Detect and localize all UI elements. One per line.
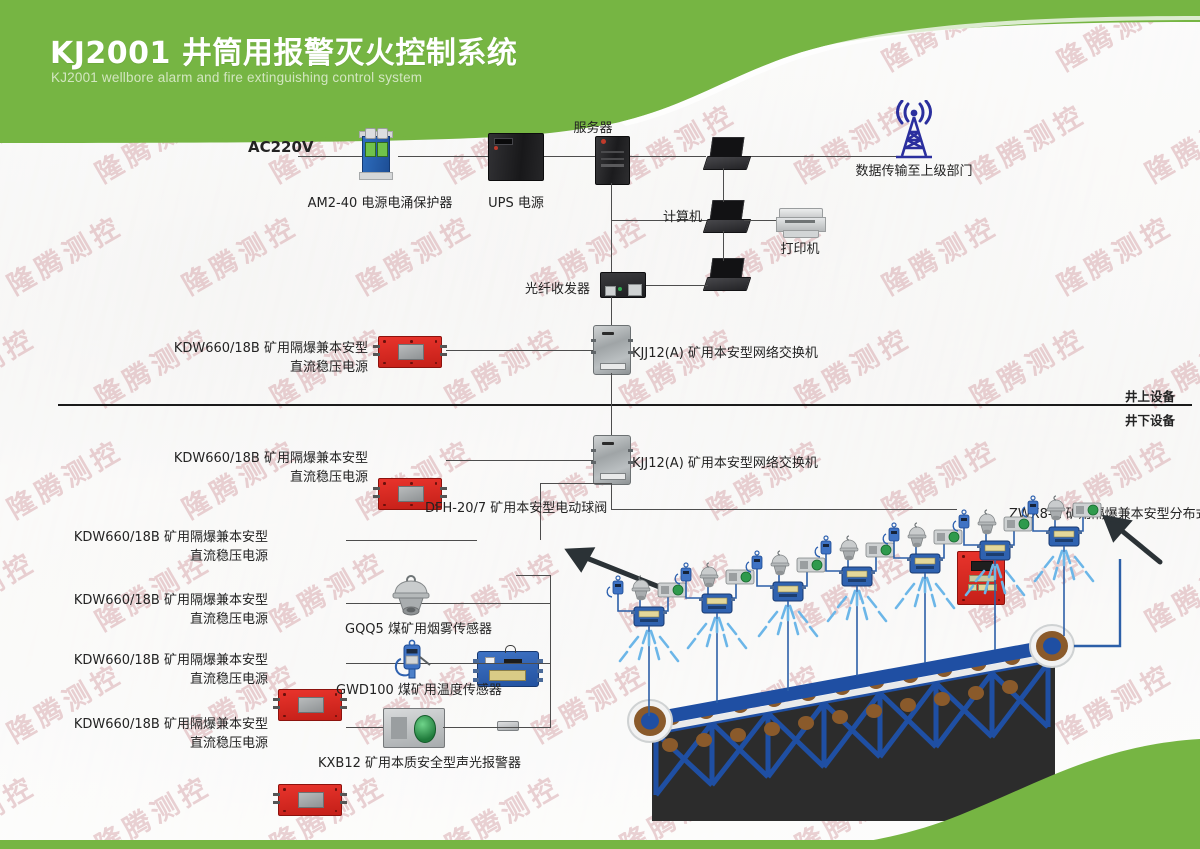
page-title: KJ2001 井筒用报警灭火控制系统 [50,28,517,72]
watermark-text: 隆腾测控 [87,765,217,849]
footer-bar [0,840,1200,849]
ps1-line1: KDW660/18B 矿用隔爆兼本安型 [70,528,268,547]
line-sensors-riser [550,575,551,728]
cluster-control-box [770,582,806,601]
cluster-alarm [1073,503,1101,517]
watermark-text: 隆腾测控 [0,541,42,639]
power-supply-surface-label: KDW660/18B 矿用隔爆兼本安型 直流稳压电源 [168,339,368,377]
page-subtitle: KJ2001 wellbore alarm and fire extinguis… [51,70,422,85]
watermark-text: 隆腾测控 [699,429,829,527]
below-ground-label: 井下设备 [1125,410,1175,429]
cluster-temp-sensor [607,576,623,597]
server-device [595,136,630,185]
network-switch-surface-label: KJJ12(A) 矿用本安型网络交换机 [632,342,818,361]
cluster-smoke-sensor [1047,496,1065,520]
watermark-text: 隆腾测控 [0,317,42,415]
line-converter-to-laptop3 [640,285,708,286]
watermark-text: 隆腾测控 [612,317,742,415]
ps4-line2: 直流稳压电源 [70,734,268,753]
smoke-sensor-label: GQQ5 煤矿用烟雾传感器 [345,618,485,637]
ps-ug-line2: 直流稳压电源 [168,468,368,487]
ps2-line2: 直流稳压电源 [70,610,268,629]
cluster-smoke-sensor [771,551,789,575]
above-ground-label: 井上设备 [1125,386,1175,405]
server-label: 服务器 [558,117,628,136]
line-surge-to-ups [398,156,488,157]
line-laptop2-to-printer [744,220,778,221]
temperature-sensor-label: GWD100 煤矿用温度传感器 [336,679,492,698]
network-switch-surface [593,325,631,375]
line-converter-to-switch1 [611,297,612,325]
cluster-control-box [631,607,667,626]
ps3-line2: 直流稳压电源 [70,670,268,689]
cluster-smoke-sensor [700,563,718,587]
cluster-control-box [907,554,943,573]
line-laptop2-laptop3 [723,231,724,261]
watermark-text: 隆腾测控 [0,765,42,849]
watermark-text: 隆腾测控 [437,765,567,849]
uplink-label: 数据传输至上级部门 [849,160,979,179]
cluster-smoke-sensor [978,510,996,534]
cluster-temp-sensor [883,523,899,544]
cluster-temp-sensor [1022,496,1038,517]
line-server-to-laptop1 [628,156,706,157]
ball-valve-label: DFH-20/7 矿用本安型电动球阀 [425,497,607,516]
line-ps1-to-ballvalve [346,540,477,541]
ps4-line1: KDW660/18B 矿用隔爆兼本安型 [70,715,268,734]
watermark-text: 隆腾测控 [0,429,129,527]
sound-light-alarm-device [383,708,445,748]
watermark-text: 隆腾测控 [1049,205,1179,303]
cluster-control-box [1046,527,1082,546]
spray-cluster [1021,491,1131,646]
ups-device [488,133,544,181]
ps3-line1: KDW660/18B 矿用隔爆兼本安型 [70,651,268,670]
watermark-text: 隆腾测控 [174,205,304,303]
cluster-control-box [699,594,735,613]
watermark-text: 隆腾测控 [962,317,1092,415]
cluster-temp-sensor [675,563,691,584]
power-supply-3-label: KDW660/18B 矿用隔爆兼本安型 直流稳压电源 [70,651,268,689]
sound-light-alarm-label: KXB12 矿用本质安全型声光报警器 [318,752,514,771]
watermark-text: 隆腾测控 [874,205,1004,303]
line-switch-branch-left [540,483,612,484]
media-converter-label: 光纤收发器 [484,278,590,297]
line-riser-to-valve [516,575,551,576]
surge-protector-device [362,128,398,180]
line-smoke-to-riser [419,603,551,604]
line-ac-to-surge [298,156,362,157]
power-supply-1-label: KDW660/18B 矿用隔爆兼本安型 直流稳压电源 [70,528,268,566]
antenna-icon [882,100,946,169]
power-supply-2-label: KDW660/18B 矿用隔爆兼本安型 直流稳压电源 [70,591,268,629]
cluster-temp-sensor [815,536,831,557]
printer-label: 打印机 [767,238,833,257]
surge-protector-label: AM2-40 电源电涌保护器 [305,192,455,211]
watermark-text: 隆腾测控 [0,205,129,303]
surface-underground-divider [58,404,1192,406]
power-supply-surface-device [378,336,442,368]
line-alarm-to-riser [443,727,551,728]
power-supply-1-device [278,689,342,721]
computer-label: 计算机 [663,206,702,225]
power-supply-surface-line2: 直流稳压电源 [168,358,368,377]
line-switch-branch-down [611,483,612,509]
power-supply-4-label: KDW660/18B 矿用隔爆兼本安型 直流稳压电源 [70,715,268,753]
cluster-smoke-sensor [908,523,926,547]
watermark-text: 隆腾测控 [437,317,567,415]
power-supply-2-device [278,784,342,816]
network-switch-underground [593,435,631,485]
network-switch-underground-label: KJJ12(A) 矿用本安型网络交换机 [632,452,818,471]
footer-curve [840,739,1200,849]
line-ps4-to-alarm [346,727,383,728]
power-supply-surface-line1: KDW660/18B 矿用隔爆兼本安型 [168,339,368,358]
ps1-line2: 直流稳压电源 [70,547,268,566]
ac220v-label: AC220V [248,138,314,156]
power-supply-underground-label: KDW660/18B 矿用隔爆兼本安型 直流稳压电源 [168,449,368,487]
line-ups-to-server [543,156,595,157]
cluster-temp-sensor [746,551,762,572]
line-switch-crossing-divider [611,373,612,435]
line-ps-to-switch-surface [446,350,593,351]
diagram-page: 隆腾测控隆腾测控隆腾测控隆腾测控隆腾测控隆腾测控隆腾测控隆腾测控隆腾测控隆腾测控… [0,0,1200,849]
line-ps3-to-temp [346,663,551,664]
watermark-text: 隆腾测控 [349,205,479,303]
cluster-smoke-sensor [632,576,650,600]
media-converter-device [600,272,646,298]
line-ps-to-switch-underground [446,460,593,461]
cluster-smoke-sensor [840,536,858,560]
ps-ug-line1: KDW660/18B 矿用隔爆兼本安型 [168,449,368,468]
cluster-temp-sensor [953,510,969,531]
line-laptop1-laptop2 [723,168,724,202]
ball-valve-actuator [497,721,519,731]
line-switch-to-zwx [611,509,957,510]
watermark-text: 隆腾测控 [787,317,917,415]
ups-label: UPS 电源 [468,192,564,211]
cluster-control-box [977,541,1013,560]
ps2-line1: KDW660/18B 矿用隔爆兼本安型 [70,591,268,610]
cluster-control-box [839,567,875,586]
